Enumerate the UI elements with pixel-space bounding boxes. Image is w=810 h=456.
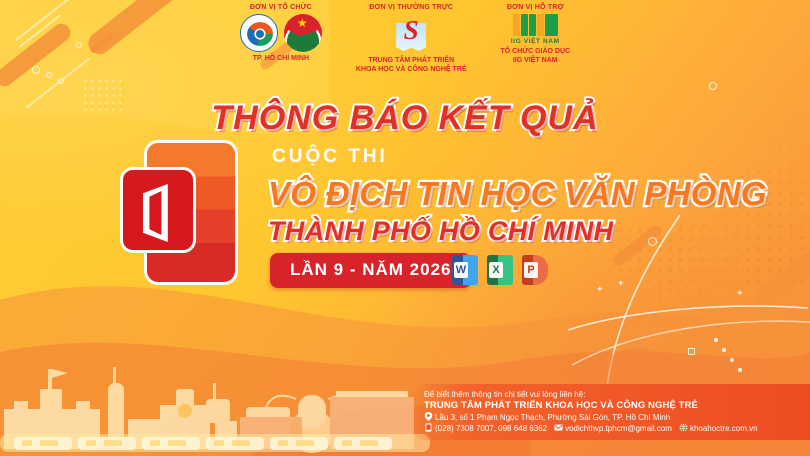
announcement-title: THÔNG BÁO KẾT QUẢ bbox=[0, 99, 810, 138]
office-app-icons: W X P bbox=[452, 255, 548, 285]
footer-organization: TRUNG TÂM PHÁT TRIỂN KHOA HỌC VÀ CÔNG NG… bbox=[424, 400, 800, 411]
contest-title-line2: THÀNH PHỐ HỒ CHÍ MINH bbox=[268, 216, 613, 247]
microsoft-office-icon bbox=[120, 140, 238, 285]
organizer-block: ĐƠN VỊ TỔ CHỨC TP. HỒ CHÍ MINH bbox=[240, 4, 322, 75]
globe-icon bbox=[679, 423, 688, 432]
metro-train-silhouette bbox=[0, 430, 430, 456]
iig-logo-icon bbox=[513, 14, 558, 36]
contest-title-line1: VÔ ĐỊCH TIN HỌC VĂN PHÒNG bbox=[268, 175, 767, 213]
iig-logo-caption: IIG VIỆT NAM bbox=[511, 38, 560, 45]
edition-badge: LẦN 9 - NĂM 2026 bbox=[270, 253, 471, 288]
footer-email: vodichthvp.tphcm@gmail.com bbox=[565, 424, 672, 433]
footer-website-row[interactable]: khoahoctre.com.vn bbox=[679, 423, 758, 433]
standing-block: ĐƠN VỊ THƯỜNG TRỰC S TRUNG TÂM PHÁT TRIỂ… bbox=[356, 4, 467, 75]
support-block: ĐƠN VỊ HỖ TRỢ IIG VIỆT NAM TỔ CHỨC GIÁO … bbox=[500, 4, 570, 75]
footer-website: khoahoctre.com.vn bbox=[690, 424, 758, 433]
footer-intro: Để biết thêm thông tin chi tiết vui lòng… bbox=[424, 390, 800, 399]
contest-label: CUỘC THI bbox=[272, 146, 388, 168]
organizer-label: ĐƠN VỊ TỔ CHỨC bbox=[240, 4, 322, 11]
email-icon bbox=[554, 423, 563, 432]
standing-label: ĐƠN VỊ THƯỜNG TRỰC bbox=[356, 4, 467, 11]
location-pin-icon bbox=[424, 412, 433, 421]
science-emblem-icon bbox=[240, 14, 278, 52]
footer-phone-row: (028) 7308 7007, 098 648 6362 bbox=[424, 423, 547, 433]
decor-circle-4 bbox=[58, 78, 64, 84]
organizer-caption: TP. HỒ CHÍ MINH bbox=[240, 55, 322, 64]
powerpoint-icon: P bbox=[522, 255, 548, 285]
footer-email-row[interactable]: vodichthvp.tphcm@gmail.com bbox=[554, 423, 672, 433]
support-label: ĐƠN VỊ HỖ TRỢ bbox=[500, 4, 570, 11]
footer-phone: (028) 7308 7007, 098 648 6362 bbox=[435, 424, 547, 433]
footer-address: Lầu 3, số 1 Phạm Ngọc Thạch, Phường Sài … bbox=[435, 413, 670, 422]
header-logos: ĐƠN VỊ TỔ CHỨC TP. HỒ CHÍ MINH ĐƠN VỊ TH… bbox=[0, 4, 810, 75]
contact-footer: Để biết thêm thông tin chi tiết vui lòng… bbox=[410, 384, 810, 440]
support-caption-line2: IIG VIỆT NAM bbox=[500, 57, 570, 66]
standing-caption-line2: KHOA HỌC VÀ CÔNG NGHỆ TRẺ bbox=[356, 66, 467, 75]
decor-circle-6 bbox=[709, 82, 717, 90]
youth-union-emblem-icon bbox=[284, 14, 322, 52]
word-icon: W bbox=[452, 255, 478, 285]
footer-address-row: Lầu 3, số 1 Phạm Ngọc Thạch, Phường Sài … bbox=[424, 412, 800, 422]
excel-icon: X bbox=[487, 255, 513, 285]
sycd-flag-emblem-icon: S bbox=[394, 14, 428, 54]
poster-canvas: ✦ ✦ ✦ ĐƠN VỊ TỔ CHỨC TP. HỒ CHÍ MINH ĐƠN… bbox=[0, 0, 810, 456]
standing-caption-line1: TRUNG TÂM PHÁT TRIỂN bbox=[356, 57, 467, 66]
support-caption-line1: TỔ CHỨC GIÁO DỤC bbox=[500, 48, 570, 57]
phone-icon bbox=[424, 423, 433, 432]
